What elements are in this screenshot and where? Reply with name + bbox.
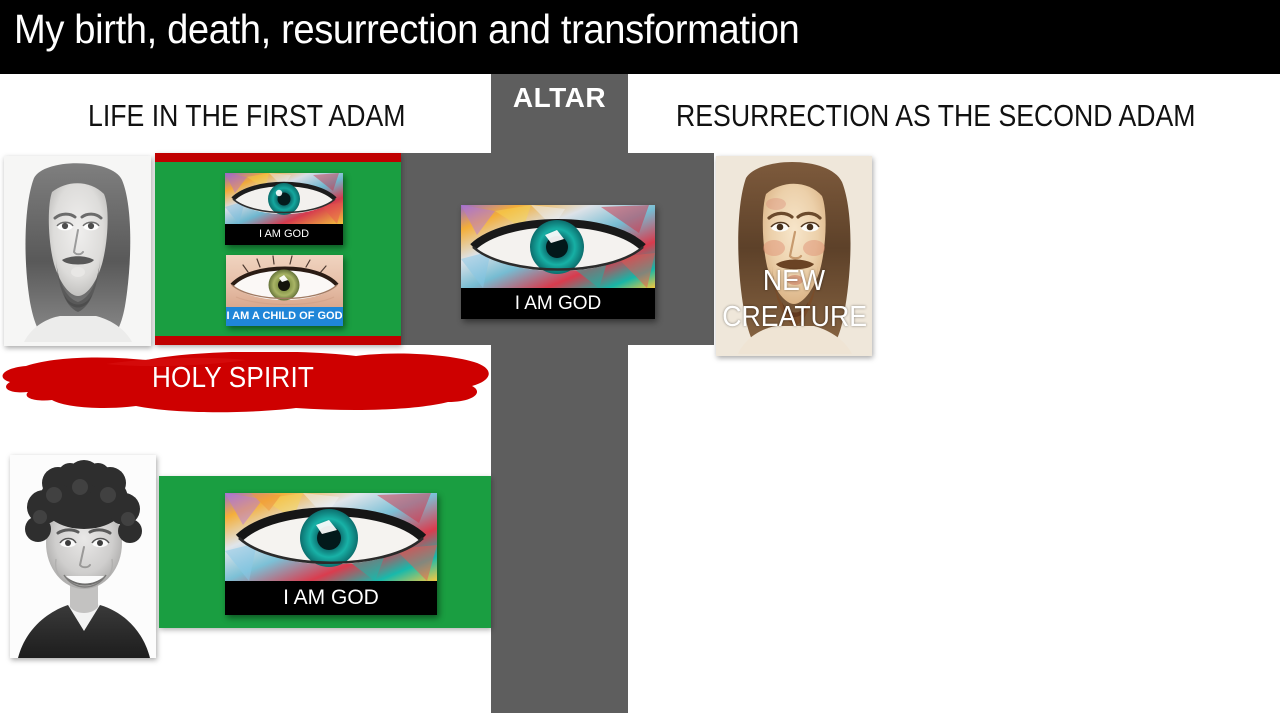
page-title: My birth, death, resurrection and transf… — [14, 6, 799, 53]
natural-eye-icon — [226, 255, 343, 307]
grayscale-jesus-face-icon — [4, 156, 151, 346]
red-accent-bar-bottom — [155, 336, 401, 345]
eye-card-i-am-god-bottom: I AM GOD — [225, 493, 437, 615]
title-bar: My birth, death, resurrection and transf… — [0, 0, 1280, 74]
colorful-eye-icon — [461, 205, 655, 288]
holy-spirit-cloud-shape — [0, 352, 496, 414]
colorful-eye-icon — [225, 493, 437, 581]
eye-card-i-am-god-altar: I AM GOD — [461, 205, 655, 319]
red-accent-bar-top — [155, 153, 401, 162]
left-column-heading: LIFE IN THE FIRST ADAM — [88, 98, 406, 134]
new-creature-line-1: NEW — [763, 265, 825, 297]
eye-card-caption: I AM GOD — [461, 288, 655, 319]
eye-card-i-am-god-small: I AM GOD — [225, 173, 343, 245]
grayscale-jesus-portrait — [4, 156, 151, 346]
smiling-man-face-icon — [10, 455, 156, 658]
altar-label: ALTAR — [491, 82, 628, 114]
colorful-eye-icon — [225, 173, 343, 224]
eye-card-child-of-god: I AM A CHILD OF GOD — [226, 255, 343, 326]
eye-card-caption: I AM A CHILD OF GOD — [226, 307, 343, 326]
new-creature-line-2: CREATURE — [722, 301, 867, 333]
man-photo — [10, 455, 156, 658]
new-creature-overlay: NEW CREATURE — [722, 263, 866, 335]
eye-card-caption: I AM GOD — [225, 581, 437, 615]
right-column-heading: RESURRECTION AS THE SECOND ADAM — [676, 98, 1195, 134]
eye-card-caption: I AM GOD — [225, 224, 343, 245]
slide-canvas: My birth, death, resurrection and transf… — [0, 0, 1280, 720]
